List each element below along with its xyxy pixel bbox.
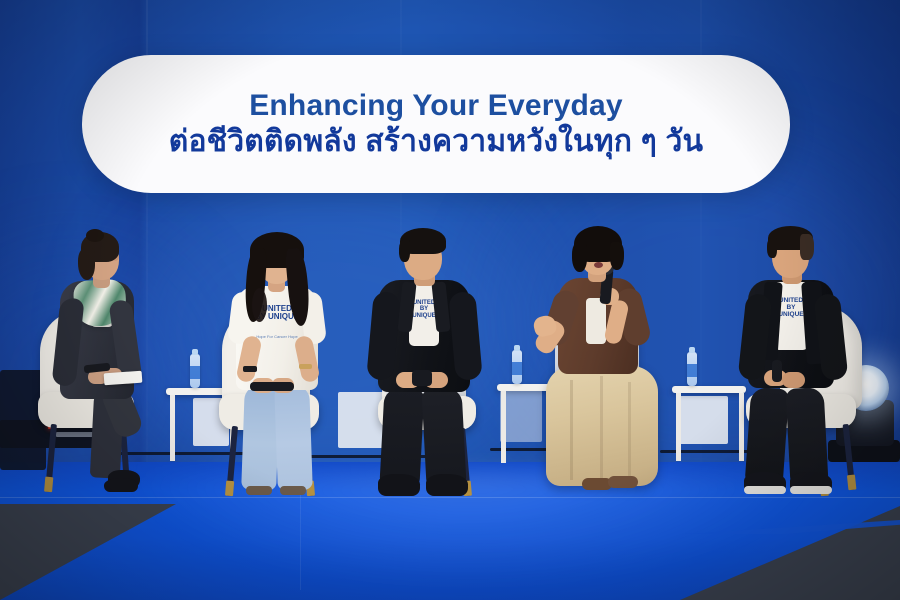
sneaker: [378, 474, 420, 496]
microphone: [250, 382, 294, 391]
bottle-label: [512, 362, 522, 375]
mouth-speaking: [594, 262, 603, 268]
sneaker: [426, 474, 468, 496]
water-bottle: [687, 352, 697, 386]
floor-seam: [0, 497, 900, 498]
bottle-label: [687, 364, 697, 377]
side-table-leg: [501, 391, 506, 463]
sandal: [608, 476, 638, 488]
side-table-leg: [739, 393, 744, 461]
sneaker-sole: [790, 486, 832, 494]
bracelet: [299, 364, 312, 369]
title-banner: Enhancing Your Everyday ต่อชีวิตติดพลัง …: [82, 55, 790, 193]
bottle-label: [190, 366, 200, 379]
banner-title-english: Enhancing Your Everyday: [249, 89, 623, 122]
sandal: [246, 486, 272, 495]
sneaker-sole: [744, 486, 786, 494]
jeans-right: [274, 385, 313, 490]
watch: [243, 366, 257, 372]
side-table-leg: [676, 393, 681, 461]
banner-title-thai: ต่อชีวิตติดพลัง สร้างความหวังในทุก ๆ วัน: [169, 124, 703, 160]
stage-riser: [676, 396, 728, 444]
microphone: [412, 370, 432, 386]
water-bottle: [190, 354, 200, 388]
side-table: [672, 386, 746, 393]
stage-riser: [500, 390, 542, 442]
stage-photograph: Enhancing Your Everyday ต่อชีวิตติดพลัง …: [0, 0, 900, 600]
sandal: [280, 486, 306, 495]
side-table-leg: [170, 395, 175, 461]
microphone: [772, 360, 782, 382]
water-bottle: [512, 350, 522, 384]
